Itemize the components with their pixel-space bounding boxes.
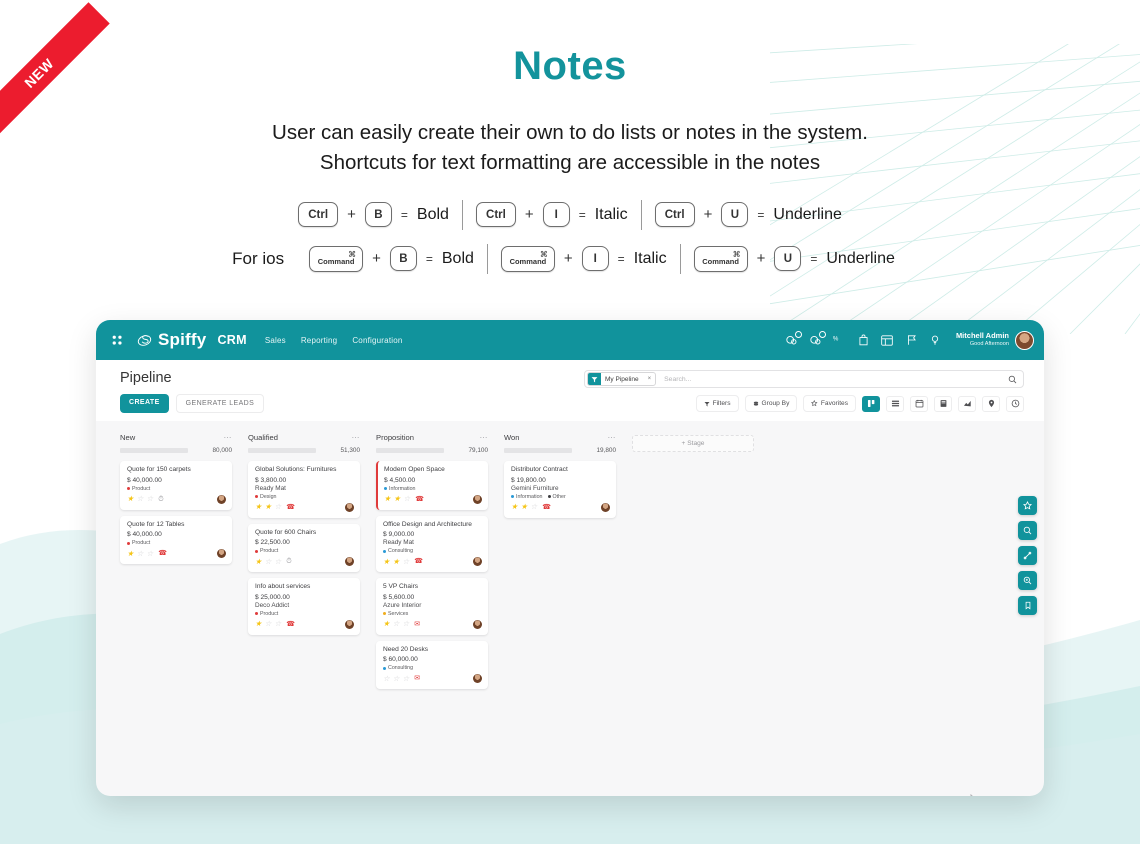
tag-dot-icon	[383, 550, 386, 553]
tag-dot-icon	[255, 495, 258, 498]
add-stage-button[interactable]: + Stage	[632, 435, 754, 452]
key-ctrl: Ctrl	[298, 202, 338, 227]
star-icon[interactable]: ☆	[403, 495, 410, 503]
key-i: I	[582, 246, 609, 271]
card-tag-label: Product	[260, 611, 278, 617]
kanban-column-menu-icon[interactable]: ⋯	[480, 436, 489, 440]
card-title: Office Design and Architecture	[383, 521, 482, 530]
card-tags: Services	[383, 611, 482, 617]
shortcut-result-italic: Italic	[634, 250, 667, 268]
avatar[interactable]	[345, 557, 354, 566]
pivot-view-icon[interactable]	[934, 396, 952, 412]
kanban-column-amount: 80,000	[212, 447, 232, 454]
plus-symbol: +	[564, 250, 573, 267]
topbar-icon-group: %	[785, 334, 942, 347]
star-icon[interactable]: ☆	[265, 558, 272, 566]
progress-track	[376, 448, 444, 453]
kanban-card-list: Quote for 150 carpets $ 40,000.00 Produc…	[120, 461, 232, 564]
equals-symbol: =	[401, 208, 408, 222]
card-priority-stars[interactable]: ★☆☆	[127, 495, 153, 503]
card-title: Distributor Contract	[511, 466, 610, 475]
user-name: Mitchell Admin	[956, 332, 1009, 341]
card-title: Global Solutions: Furnitures	[255, 466, 354, 475]
star-icon[interactable]: ☆	[146, 495, 153, 503]
card-tags: Product	[255, 611, 354, 617]
kanban-column-amount: 51,300	[340, 447, 360, 454]
kanban-column-amount: 19,800	[596, 447, 616, 454]
kanban-column-progress: 80,000	[120, 447, 232, 454]
star-icon[interactable]: ★	[393, 558, 400, 566]
star-icon[interactable]: ★	[384, 495, 391, 503]
kanban-card[interactable]: Quote for 150 carpets $ 40,000.00 Produc…	[120, 461, 232, 510]
shortcut-bold-windows: Ctrl + B = Bold	[285, 202, 462, 227]
map-view-icon[interactable]	[982, 396, 1000, 412]
card-tags: Consulting	[383, 665, 482, 671]
star-icon[interactable]: ★	[521, 503, 528, 511]
star-icon[interactable]: ★	[511, 503, 518, 511]
star-icon[interactable]: ☆	[274, 558, 281, 566]
card-tag-label: Product	[132, 486, 150, 492]
calendar-view-icon[interactable]	[910, 396, 928, 412]
plus-symbol: +	[372, 250, 381, 267]
control-panel: Pipeline My Pipeline × Search...	[96, 360, 1044, 421]
star-icon[interactable]: ★	[127, 550, 134, 558]
star-icon[interactable]: ☆	[137, 495, 144, 503]
card-tags: Design	[255, 494, 354, 500]
avatar[interactable]	[217, 495, 226, 504]
star-icon[interactable]: ★	[383, 558, 390, 566]
star-icon[interactable]: ★	[383, 620, 390, 628]
card-tag: Product	[255, 548, 278, 554]
shortcut-result-underline: Underline	[826, 250, 894, 268]
avatar[interactable]	[345, 503, 354, 512]
activities-icon[interactable]	[809, 334, 822, 347]
menu-item-sales[interactable]: Sales	[265, 336, 286, 345]
star-icon[interactable]: ☆	[402, 620, 409, 628]
card-tag-label: Information	[389, 486, 416, 492]
card-priority-stars[interactable]: ★★☆	[384, 495, 410, 503]
card-tags: Consulting	[383, 548, 482, 554]
equals-symbol: =	[426, 252, 433, 266]
activity-clock-icon[interactable]: ⏱	[286, 558, 291, 565]
card-priority-stars[interactable]: ★★☆	[255, 503, 281, 511]
key-i: I	[543, 202, 570, 227]
brand-logo[interactable]: Spiffy	[136, 330, 206, 350]
shortcut-result-bold: Bold	[417, 206, 449, 224]
kanban-column-menu-icon[interactable]: ⋯	[352, 436, 361, 440]
star-icon[interactable]: ☆	[402, 558, 409, 566]
key-b: B	[390, 246, 417, 271]
kanban-card-list: Modern Open Space $ 4,500.00 Information…	[376, 461, 488, 689]
megaphone-icon[interactable]	[905, 334, 918, 347]
key-u: U	[721, 202, 748, 227]
plus-symbol: +	[347, 206, 356, 223]
group-by-label: Group By	[762, 400, 790, 407]
kanban-column-title: Won	[504, 433, 519, 442]
apps-menu-icon[interactable]	[104, 334, 130, 347]
expand-icon[interactable]	[1018, 546, 1037, 565]
group-by-icon	[753, 401, 759, 407]
kanban-card[interactable]: Global Solutions: Furnitures $ 3,800.00 …	[248, 461, 360, 518]
card-tag-label: Product	[132, 540, 150, 546]
key-command: ⌘ Command	[309, 246, 363, 272]
spiffy-logo-icon	[136, 332, 153, 349]
card-tag: Information	[511, 494, 543, 500]
page-subtitle-line-2: Shortcuts for text formatting are access…	[0, 149, 1140, 177]
control-panel-top-row: Pipeline My Pipeline × Search...	[120, 370, 1024, 388]
kanban-view-icon[interactable]	[862, 396, 880, 412]
kanban-board: New ⋯ 80,000 Quote for 150 carpets $ 40,…	[96, 421, 1044, 689]
card-partner: Ready Mat	[383, 539, 482, 546]
shortcut-bold-ios: ⌘ Command + B = Bold	[296, 246, 487, 272]
shortcut-result-underline: Underline	[773, 206, 841, 224]
card-tag-label: Consulting	[388, 548, 413, 554]
key-u: U	[774, 246, 801, 271]
card-tags: Information	[384, 486, 482, 492]
bookmark-icon[interactable]	[1018, 596, 1037, 615]
side-toolbar	[1018, 496, 1037, 615]
favorites-button[interactable]: Favorites	[803, 395, 856, 412]
user-text-block: Mitchell Admin Good Afternoon	[956, 332, 1009, 347]
progress-track	[248, 448, 316, 453]
kanban-column-title: New	[120, 433, 135, 442]
card-priority-stars[interactable]: ★☆☆	[383, 620, 409, 628]
star-icon[interactable]: ★	[265, 503, 272, 511]
search-facet-label: My Pipeline	[601, 376, 648, 383]
key-command: ⌘ Command	[501, 246, 555, 272]
list-view-icon[interactable]	[886, 396, 904, 412]
avatar[interactable]	[473, 674, 482, 683]
card-title: Modern Open Space	[384, 466, 482, 475]
mouse-cursor	[970, 794, 981, 796]
card-tags: Product	[127, 540, 226, 546]
kanban-column-header: Proposition ⋯	[376, 433, 488, 442]
search-icon[interactable]	[1018, 521, 1037, 540]
activity-phone-icon[interactable]: ☎	[286, 504, 295, 511]
card-partner: Azure Interior	[383, 602, 482, 609]
kanban-card[interactable]: Info about services $ 25,000.00 Deco Add…	[248, 578, 360, 635]
favorites-label: Favorites	[821, 400, 848, 407]
card-amount: $ 19,800.00	[511, 477, 610, 484]
shopping-bag-icon[interactable]	[857, 334, 870, 347]
card-footer: ★☆☆ ✉	[383, 620, 482, 629]
search-facet-my-pipeline[interactable]: My Pipeline ×	[587, 372, 656, 386]
app-window-screenshot: Spiffy CRM Sales Reporting Configuration	[96, 320, 1044, 796]
kanban-card[interactable]: 5 VP Chairs $ 5,600.00 Azure Interior Se…	[376, 578, 488, 635]
breadcrumb: Pipeline	[120, 370, 172, 386]
star-icon[interactable]: ☆	[137, 550, 144, 558]
filter-icon	[588, 372, 601, 386]
star-icon[interactable]: ☆	[274, 620, 281, 628]
tag-dot-icon	[511, 495, 514, 498]
page-title: Notes	[0, 44, 1140, 89]
progress-track	[120, 448, 188, 453]
progress-track	[504, 448, 572, 453]
activity-clock-icon[interactable]: ⏱	[158, 496, 163, 503]
kanban-column-proposition: Proposition ⋯ 79,100 Modern Open Space $…	[376, 433, 488, 689]
user-greeting: Good Afternoon	[956, 341, 1009, 347]
star-icon[interactable]: ☆	[402, 675, 409, 683]
equals-symbol: =	[810, 252, 817, 266]
card-partner: Gemini Furniture	[511, 485, 610, 492]
activity-phone-icon[interactable]: ☎	[286, 621, 295, 628]
kanban-column-progress: 19,800	[504, 447, 616, 454]
kanban-column-menu-icon[interactable]: ⋯	[608, 436, 617, 440]
activity-mail-icon[interactable]: ✉	[414, 675, 420, 682]
activities-badge	[819, 331, 826, 338]
card-amount: $ 3,800.00	[255, 477, 354, 484]
app-top-navbar: Spiffy CRM Sales Reporting Configuration	[96, 320, 1044, 360]
shortcut-italic-ios: ⌘ Command + I = Italic	[488, 246, 680, 272]
card-amount: $ 22,500.00	[255, 539, 354, 546]
star-icon[interactable]: ☆	[393, 675, 400, 683]
kanban-card[interactable]: Need 20 Desks $ 60,000.00 Consulting ☆☆☆…	[376, 641, 488, 690]
avatar[interactable]	[473, 557, 482, 566]
card-tag: Product	[127, 540, 150, 546]
star-icon[interactable]: ★	[255, 558, 262, 566]
card-tag: Information	[384, 486, 416, 492]
filters-label: Filters	[713, 400, 731, 407]
kanban-column-header: Won ⋯	[504, 433, 616, 442]
tag-dot-icon	[127, 487, 130, 490]
kanban-column-progress: 51,300	[248, 447, 360, 454]
card-tag: Product	[255, 611, 278, 617]
card-tag: Consulting	[383, 548, 413, 554]
card-title: Need 20 Desks	[383, 646, 482, 655]
brand-name: Spiffy	[158, 330, 206, 350]
card-title: Info about services	[255, 583, 354, 592]
avatar[interactable]	[473, 620, 482, 629]
star-icon[interactable]: ★	[127, 495, 134, 503]
kanban-column-qualified: Qualified ⋯ 51,300 Global Solutions: Fur…	[248, 433, 360, 635]
card-footer: ★☆☆ ⏱	[127, 495, 226, 504]
messages-icon[interactable]	[785, 334, 798, 347]
activity-mail-icon[interactable]: ✉	[414, 621, 420, 628]
shortcut-underline-ios: ⌘ Command + U = Underline	[681, 246, 908, 272]
menu-item-reporting[interactable]: Reporting	[301, 336, 338, 345]
command-label: Command	[318, 258, 355, 266]
kanban-column-won: Won ⋯ 19,800 Distributor Contract $ 19,8…	[504, 433, 616, 518]
tag-dot-icon	[255, 550, 258, 553]
star-icon[interactable]: ☆	[393, 620, 400, 628]
kanban-column-menu-icon[interactable]: ⋯	[224, 436, 233, 440]
shortcut-row-windows: Ctrl + B = Bold Ctrl + I = Italic Ctrl +…	[0, 200, 1140, 230]
activity-phone-icon[interactable]: ☎	[542, 504, 551, 511]
user-menu[interactable]: Mitchell Admin Good Afternoon	[956, 331, 1034, 350]
avatar[interactable]	[473, 495, 482, 504]
card-title: Quote for 12 Tables	[127, 521, 226, 530]
kanban-column-amount: 79,100	[468, 447, 488, 454]
card-amount: $ 40,000.00	[127, 477, 226, 484]
messages-badge	[795, 331, 802, 338]
shortcut-italic-windows: Ctrl + I = Italic	[463, 202, 641, 227]
card-title: Quote for 600 Chairs	[255, 529, 354, 538]
card-footer: ★★☆ ☎	[384, 495, 482, 504]
kanban-card[interactable]: Quote for 12 Tables $ 40,000.00 Product …	[120, 516, 232, 565]
tag-dot-icon	[255, 612, 258, 615]
key-b: B	[365, 202, 392, 227]
card-footer: ★★☆ ☎	[383, 557, 482, 566]
card-footer: ★★☆ ☎	[511, 503, 610, 512]
activity-view-icon[interactable]	[1006, 396, 1024, 412]
tag-dot-icon	[383, 612, 386, 615]
card-tag: Consulting	[383, 665, 413, 671]
card-amount: $ 5,600.00	[383, 594, 482, 601]
tag-dot-icon	[548, 495, 551, 498]
card-footer: ★☆☆ ⏱	[255, 557, 354, 566]
tag-dot-icon	[384, 487, 387, 490]
card-amount: $ 25,000.00	[255, 594, 354, 601]
bulb-icon[interactable]	[929, 334, 942, 347]
create-button[interactable]: CREATE	[120, 394, 169, 413]
card-tag-label: Design	[260, 494, 277, 500]
shortcut-underline-windows: Ctrl + U = Underline	[642, 202, 855, 227]
card-footer: ☆☆☆ ✉	[383, 674, 482, 683]
plus-symbol: +	[704, 206, 713, 223]
kanban-card[interactable]: Distributor Contract $ 19,800.00 Gemini …	[504, 461, 616, 518]
equals-symbol: =	[618, 252, 625, 266]
shortcut-result-italic: Italic	[595, 206, 628, 224]
menu-item-configuration[interactable]: Configuration	[352, 336, 402, 345]
card-tags: Information Other	[511, 494, 610, 500]
star-icon[interactable]: ★	[394, 495, 401, 503]
command-label: Command	[510, 258, 547, 266]
card-tag: Services	[383, 611, 408, 617]
card-priority-stars[interactable]: ★★☆	[383, 558, 409, 566]
generate-leads-button[interactable]: GENERATE LEADS	[176, 394, 265, 413]
search-input[interactable]: My Pipeline × Search...	[584, 370, 1024, 388]
plus-symbol: +	[525, 206, 534, 223]
card-tag: Product	[127, 486, 150, 492]
tag-dot-icon	[383, 667, 386, 670]
kanban-column-progress: 79,100	[376, 447, 488, 454]
card-priority-stars[interactable]: ★☆☆	[255, 620, 281, 628]
grid-icon[interactable]	[881, 334, 894, 347]
action-buttons: CREATE GENERATE LEADS	[120, 394, 264, 413]
activity-phone-icon[interactable]: ☎	[158, 550, 167, 557]
plus-symbol: +	[757, 250, 766, 267]
search-icon[interactable]	[1008, 375, 1017, 384]
avatar[interactable]	[345, 620, 354, 629]
star-icon[interactable]: ★	[255, 503, 262, 511]
card-tag-label: Services	[388, 611, 408, 617]
search-area: My Pipeline × Search...	[584, 370, 1024, 388]
shortcut-row-ios: For ios ⌘ Command + B = Bold ⌘ Command +…	[0, 244, 1140, 274]
graph-view-icon[interactable]	[958, 396, 976, 412]
activity-phone-icon[interactable]: ☎	[414, 558, 423, 565]
card-tag-label: Consulting	[388, 665, 413, 671]
zoom-icon[interactable]	[1018, 571, 1037, 590]
kanban-column-title: Proposition	[376, 433, 414, 442]
kanban-card-list: Distributor Contract $ 19,800.00 Gemini …	[504, 461, 616, 518]
control-panel-bottom-row: CREATE GENERATE LEADS Filters Group By F…	[120, 394, 1024, 413]
group-by-button[interactable]: Group By	[745, 395, 798, 412]
card-tags: Product	[255, 548, 354, 554]
app-menu: Sales Reporting Configuration	[265, 336, 403, 345]
shortcut-result-bold: Bold	[442, 250, 474, 268]
card-tags: Product	[127, 486, 226, 492]
key-ctrl: Ctrl	[476, 202, 516, 227]
card-amount: $ 4,500.00	[384, 477, 482, 484]
kanban-card[interactable]: Modern Open Space $ 4,500.00 Information…	[376, 461, 488, 510]
card-partner: Deco Addict	[255, 602, 354, 609]
tag-dot-icon	[127, 542, 130, 545]
key-command: ⌘ Command	[694, 246, 748, 272]
card-amount: $ 40,000.00	[127, 531, 226, 538]
card-title: Quote for 150 carpets	[127, 466, 226, 475]
star-icon[interactable]: ☆	[383, 675, 390, 683]
card-tag-label: Product	[260, 548, 278, 554]
kanban-column-new: New ⋯ 80,000 Quote for 150 carpets $ 40,…	[120, 433, 232, 564]
card-priority-stars[interactable]: ★☆☆	[255, 558, 281, 566]
card-footer: ★☆☆ ☎	[127, 549, 226, 558]
filters-button[interactable]: Filters	[696, 395, 739, 412]
star-icon	[811, 400, 818, 407]
star-icon[interactable]	[1018, 496, 1037, 515]
star-icon[interactable]: ☆	[265, 620, 272, 628]
card-priority-stars[interactable]: ★☆☆	[127, 550, 153, 558]
card-priority-stars[interactable]: ☆☆☆	[383, 675, 409, 683]
view-controls: Filters Group By Favorites	[696, 395, 1024, 412]
kanban-card[interactable]: Office Design and Architecture $ 9,000.0…	[376, 516, 488, 573]
kanban-column-header: Qualified ⋯	[248, 433, 360, 442]
svg-text:%: %	[833, 337, 839, 343]
translate-icon[interactable]: %	[833, 334, 846, 347]
star-icon[interactable]: ☆	[274, 503, 281, 511]
card-tag: Design	[255, 494, 277, 500]
star-icon[interactable]: ★	[255, 620, 262, 628]
activity-phone-icon[interactable]: ☎	[415, 496, 424, 503]
equals-symbol: =	[579, 208, 586, 222]
close-icon[interactable]: ×	[648, 376, 656, 382]
card-amount: $ 9,000.00	[383, 531, 482, 538]
kanban-column-title: Qualified	[248, 433, 278, 442]
search-placeholder[interactable]: Search...	[664, 376, 1008, 383]
card-title: 5 VP Chairs	[383, 583, 482, 592]
card-tag: Other	[548, 494, 566, 500]
kanban-card[interactable]: Quote for 600 Chairs $ 22,500.00 Product…	[248, 524, 360, 573]
ios-label: For ios	[232, 249, 284, 269]
card-tag-label: Other	[553, 494, 566, 500]
avatar[interactable]	[601, 503, 610, 512]
card-amount: $ 60,000.00	[383, 656, 482, 663]
star-icon[interactable]: ☆	[530, 503, 537, 511]
page-subtitle-line-1: User can easily create their own to do l…	[0, 119, 1140, 147]
key-ctrl: Ctrl	[655, 202, 695, 227]
avatar[interactable]	[217, 549, 226, 558]
card-footer: ★★☆ ☎	[255, 503, 354, 512]
card-priority-stars[interactable]: ★★☆	[511, 503, 537, 511]
equals-symbol: =	[757, 208, 764, 222]
avatar[interactable]	[1015, 331, 1034, 350]
card-partner: Ready Mat	[255, 485, 354, 492]
command-label: Command	[702, 258, 739, 266]
kanban-card-list: Global Solutions: Furnitures $ 3,800.00 …	[248, 461, 360, 635]
card-footer: ★☆☆ ☎	[255, 620, 354, 629]
star-icon[interactable]: ☆	[146, 550, 153, 558]
kanban-column-header: New ⋯	[120, 433, 232, 442]
filter-icon	[704, 401, 710, 407]
card-tag-label: Information	[516, 494, 543, 500]
current-app-name: CRM	[217, 333, 246, 347]
